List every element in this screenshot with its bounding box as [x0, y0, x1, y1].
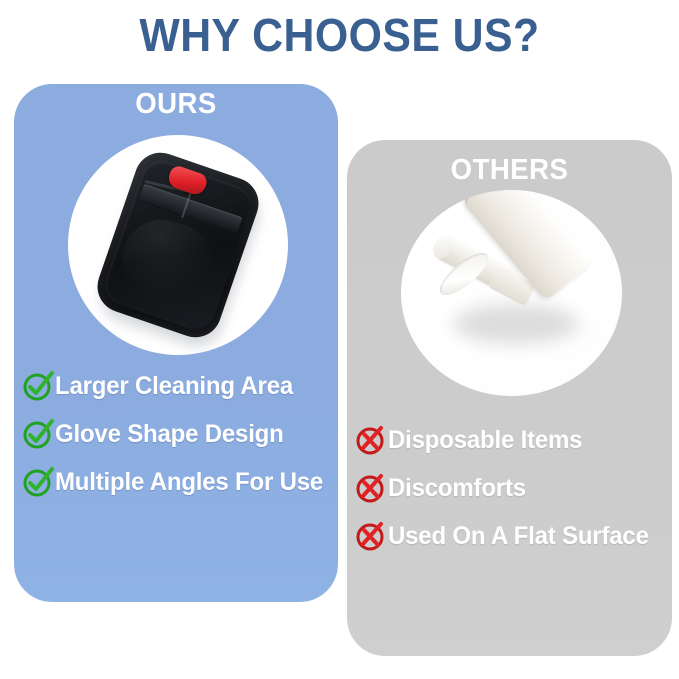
list-item-label: Larger Cleaning Area	[55, 372, 293, 401]
ours-product-image	[68, 135, 288, 355]
ours-feature-list: Larger Cleaning Area Glove Shape Design …	[14, 362, 338, 506]
list-item-label: Multiple Angles For Use	[55, 468, 323, 497]
green-check-circle-icon	[22, 370, 54, 402]
green-check-circle-icon	[22, 466, 54, 498]
list-item-label: Used On A Flat Surface	[388, 522, 649, 551]
others-heading: OTHERS	[355, 154, 664, 187]
list-item-label: Disposable Items	[388, 426, 582, 455]
list-item: Multiple Angles For Use	[14, 458, 338, 506]
list-item: Glove Shape Design	[14, 410, 338, 458]
list-item-label: Discomforts	[388, 474, 526, 503]
list-item: Used On A Flat Surface	[347, 512, 672, 560]
list-item: Discomforts	[347, 464, 672, 512]
page-title: WHY CHOOSE US?	[24, 8, 655, 62]
roller-shadow	[453, 304, 579, 344]
glove-pad-illustration	[90, 146, 265, 345]
red-x-circle-icon	[355, 472, 387, 504]
green-check-circle-icon	[22, 418, 54, 450]
ours-heading: OURS	[22, 88, 330, 121]
others-feature-list: Disposable Items Discomforts Used On	[347, 416, 672, 560]
lint-roller-illustration	[417, 208, 607, 378]
red-x-circle-icon	[355, 520, 387, 552]
others-product-image	[401, 190, 622, 396]
list-item-label: Glove Shape Design	[55, 420, 284, 449]
list-item: Larger Cleaning Area	[14, 362, 338, 410]
ours-panel: OURS Larger Cleaning Area	[14, 84, 338, 602]
list-item: Disposable Items	[347, 416, 672, 464]
others-panel: OTHERS Disposable Items	[347, 140, 672, 656]
red-x-circle-icon	[355, 424, 387, 456]
